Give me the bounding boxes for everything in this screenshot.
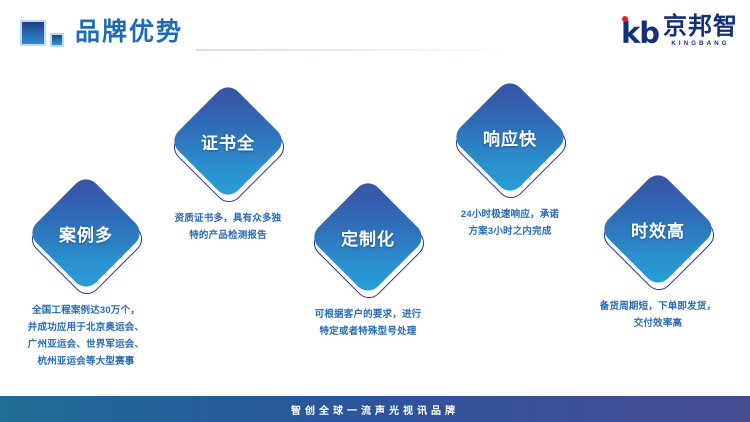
- feature-description: 24小时极速响应，承诺方案3小时之内完成: [430, 206, 590, 240]
- diamond-badge: 证书全: [169, 82, 287, 200]
- feature-label: 案例多: [27, 174, 145, 292]
- page-title: 品牌优势: [75, 16, 183, 48]
- logo-wordmark: 京邦智 KINGBANG: [663, 15, 738, 48]
- feature-label: 响应快: [451, 78, 569, 196]
- square-marker-small-icon: [50, 33, 64, 47]
- feature-item[interactable]: 证书全 资质证书多，具有众多独特的产品检测报告: [148, 82, 308, 244]
- logo-red-dot-icon: [622, 16, 628, 22]
- feature-label: 定制化: [309, 178, 427, 296]
- feature-item[interactable]: 案例多 全国工程案例达30万个，并成功应用于北京奥运会、广州亚运会、世界军运会、…: [6, 174, 166, 370]
- diamond-badge: 定制化: [309, 178, 427, 296]
- slide-header: 品牌优势 kb 京邦智 KINGBANG: [0, 0, 750, 66]
- logo-name-cn: 京邦智: [663, 15, 738, 39]
- feature-label: 证书全: [169, 82, 287, 200]
- feature-item[interactable]: 时效高 备货周期短，下单即发货，交付效率高: [578, 170, 738, 332]
- slide-footer: 智创全球一流声光视讯品牌: [0, 396, 750, 422]
- feature-description: 全国工程案例达30万个，并成功应用于北京奥运会、广州亚运会、世界军运会、杭州亚运…: [6, 302, 166, 370]
- footer-slogan: 智创全球一流声光视讯品牌: [291, 402, 459, 417]
- feature-item[interactable]: 定制化 可根据客户的要求，进行特定或者特殊型号处理: [288, 178, 448, 340]
- square-marker-large-icon: [20, 20, 46, 46]
- feature-label: 时效高: [599, 170, 717, 288]
- logo-mark: kb: [621, 18, 659, 48]
- feature-description: 可根据客户的要求，进行特定或者特殊型号处理: [288, 306, 448, 340]
- diamond-badge: 案例多: [27, 174, 145, 292]
- logo-name-en: KINGBANG: [671, 40, 729, 48]
- diamond-badge: 时效高: [599, 170, 717, 288]
- diamond-badge: 响应快: [451, 78, 569, 196]
- feature-description: 备货周期短，下单即发货，交付效率高: [578, 298, 738, 332]
- feature-description: 资质证书多，具有众多独特的产品检测报告: [148, 210, 308, 244]
- brand-logo: kb 京邦智 KINGBANG: [621, 14, 738, 48]
- feature-item[interactable]: 响应快 24小时极速响应，承诺方案3小时之内完成: [430, 78, 590, 240]
- slide-canvas: 品牌优势 kb 京邦智 KINGBANG 案例多 全国工程案例达30万个，并成功…: [0, 0, 750, 422]
- title-divider: [196, 49, 514, 51]
